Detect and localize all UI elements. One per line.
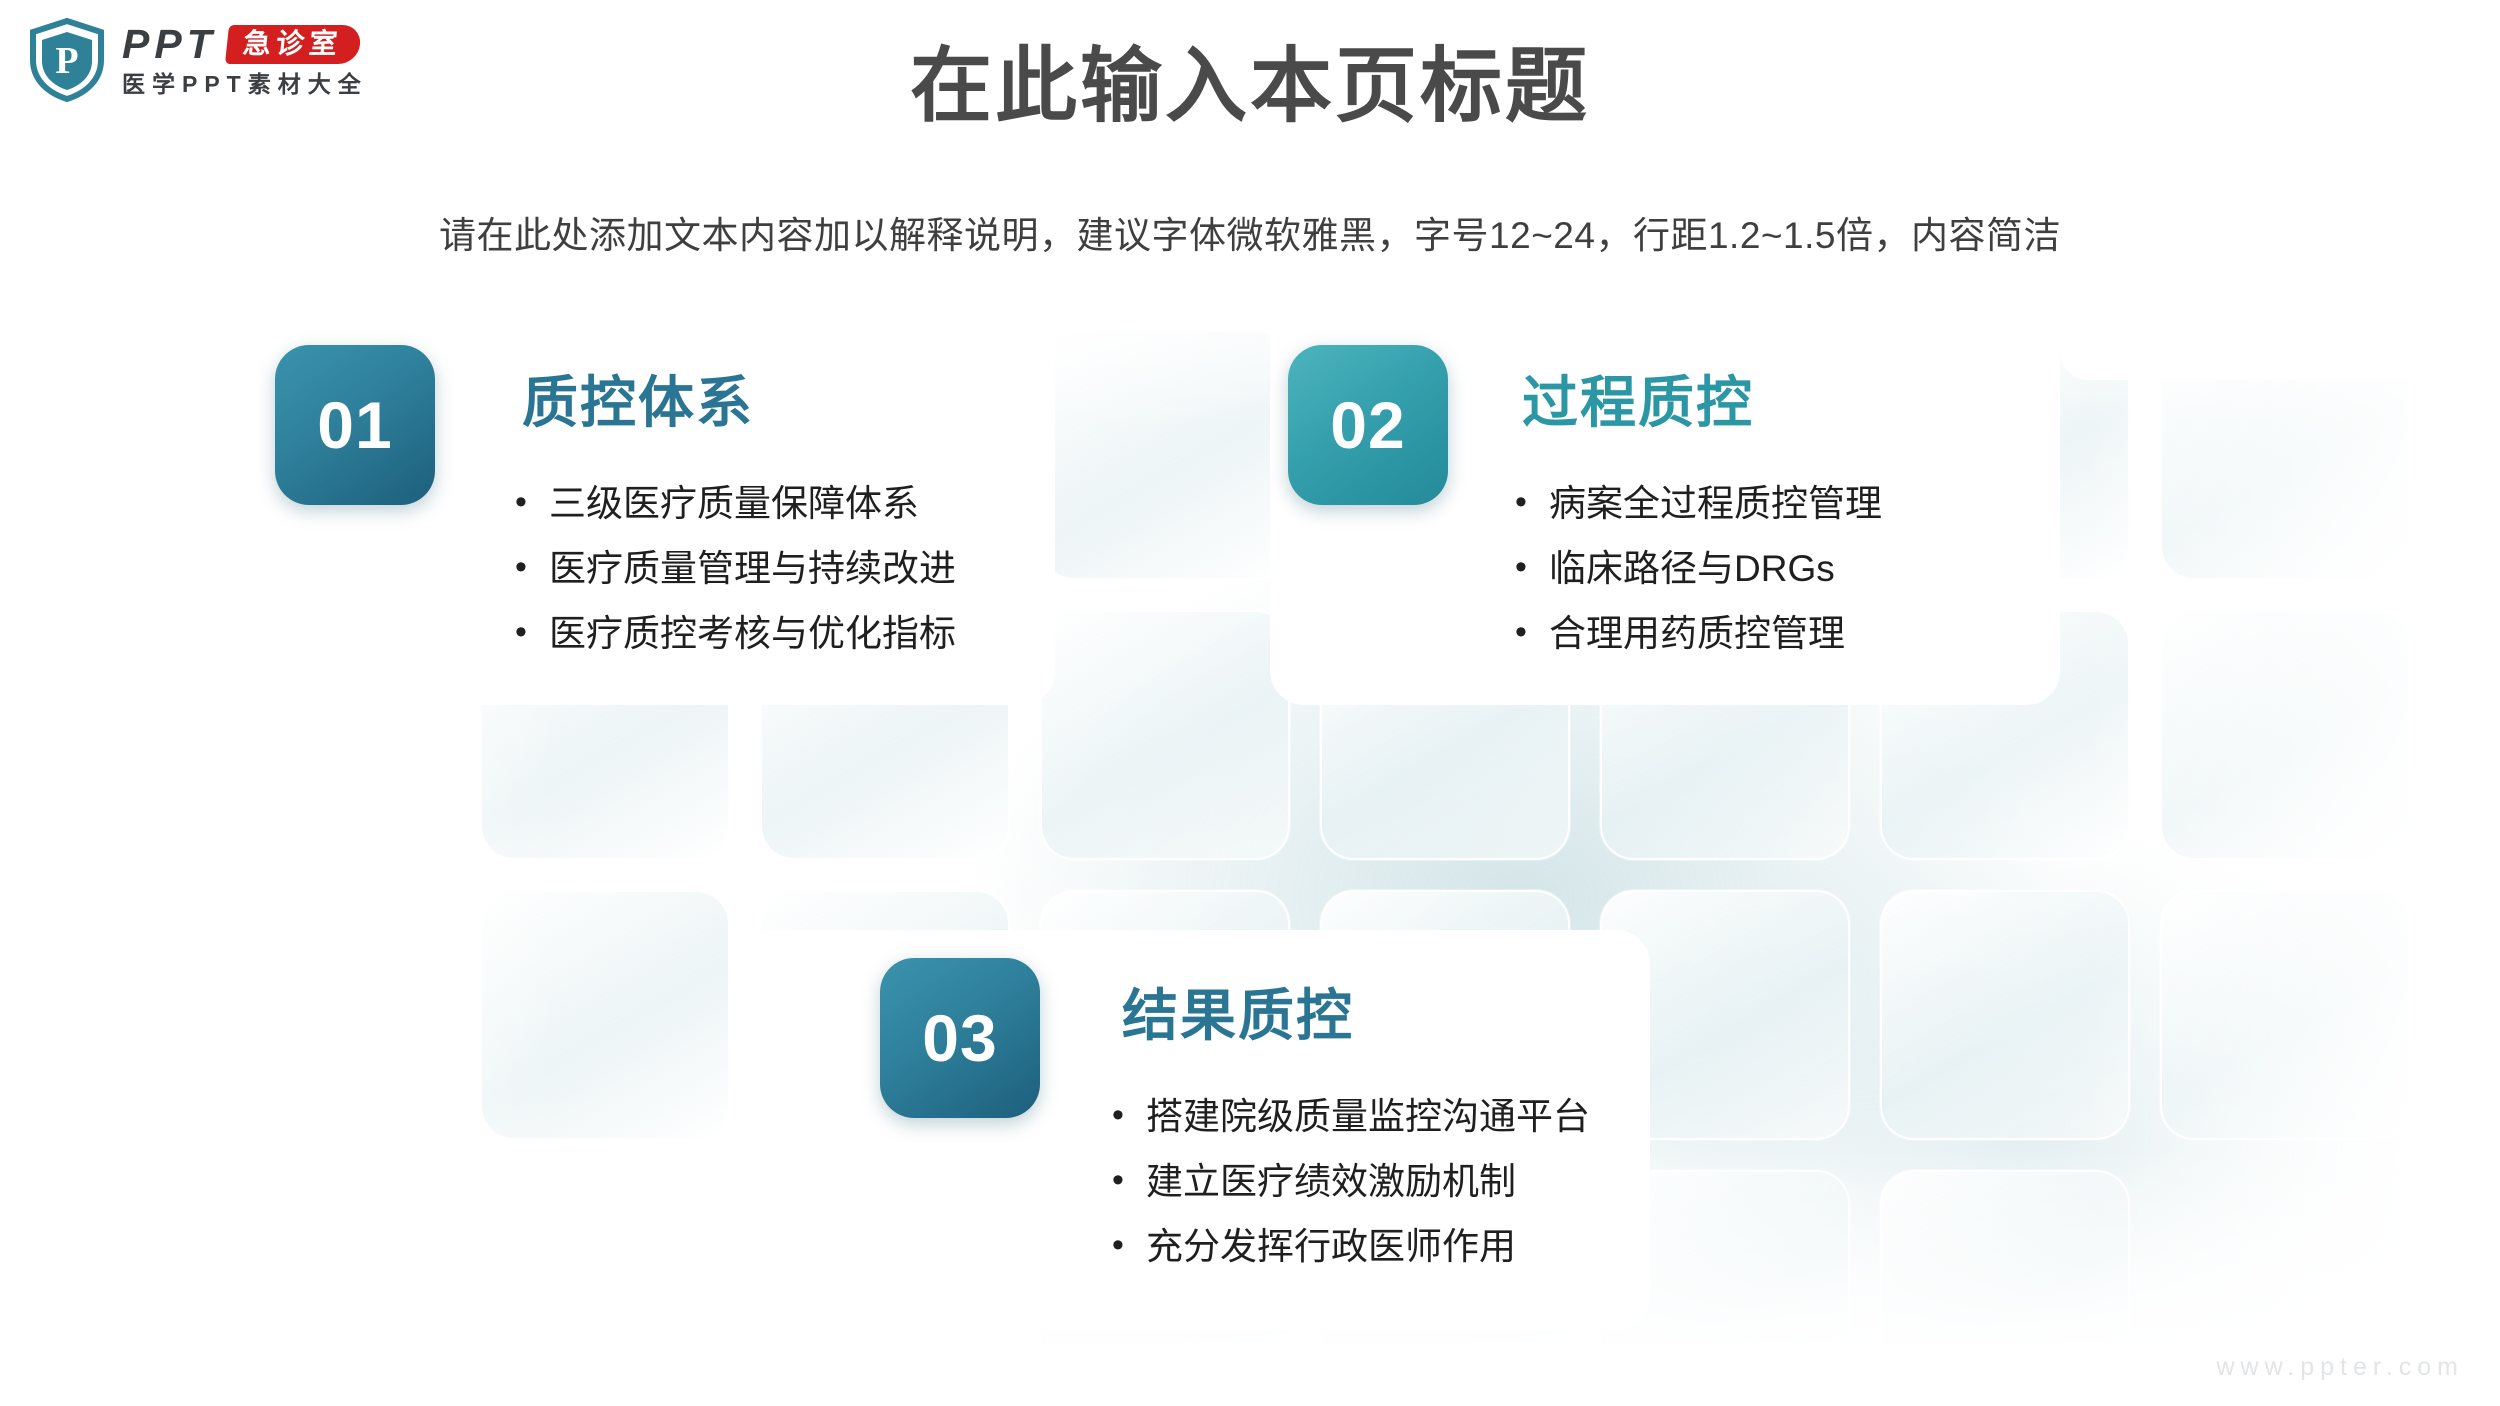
item-number-badge-3: 03 (880, 958, 1040, 1118)
bullet-marker-icon: • (1112, 1098, 1136, 1134)
list-item: • 搭建院级质量监控沟通平台 (1112, 1098, 1590, 1135)
item-heading-3: 结果质控 (1122, 988, 1354, 1044)
slide-canvas: P PPT 急诊室 医学PPT素材大全 在此输入本页标题 请在此处添加文本内容加… (0, 0, 2500, 1406)
site-watermark: www.ppter.com (2216, 1353, 2464, 1382)
bullet-marker-icon: • (1112, 1228, 1136, 1264)
item-number-3: 03 (922, 1000, 997, 1076)
list-item: • 建立医疗绩效激励机制 (1112, 1163, 1590, 1200)
bullet-marker-icon: • (1112, 1163, 1136, 1199)
item-bullets-3: • 搭建院级质量监控沟通平台 • 建立医疗绩效激励机制 • 充分发挥行政医师作用 (1112, 1098, 1590, 1293)
page-title: 在此输入本页标题 (0, 42, 2500, 132)
bullet-text: 搭建院级质量监控沟通平台 (1146, 1098, 1590, 1135)
bullet-text: 建立医疗绩效激励机制 (1146, 1163, 1516, 1200)
bullet-text: 充分发挥行政医师作用 (1146, 1228, 1516, 1265)
page-subtitle: 请在此处添加文本内容加以解释说明，建议字体微软雅黑，字号12~24，行距1.2~… (0, 205, 2500, 259)
list-item: • 充分发挥行政医师作用 (1112, 1228, 1590, 1265)
